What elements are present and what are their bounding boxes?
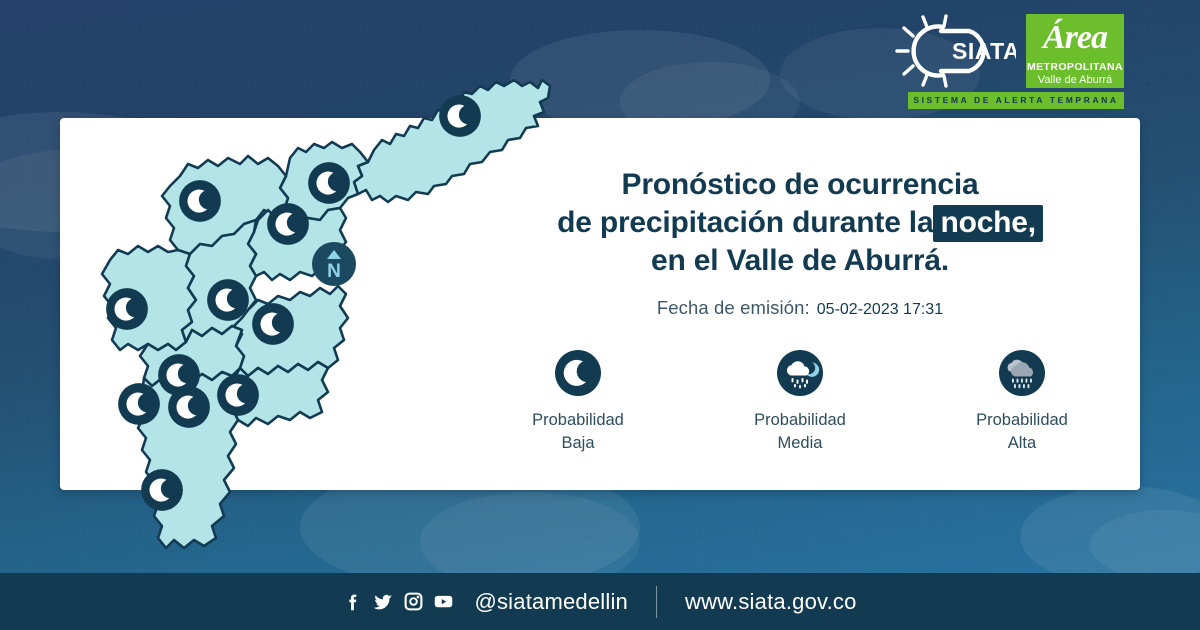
logo-row: SIATA Área METROPOLITANA Valle de Aburrá [894, 14, 1124, 88]
legend-label-baja: Probabilidad Baja [532, 409, 624, 454]
facebook-icon[interactable] [343, 591, 364, 612]
twitter-icon[interactable] [373, 591, 394, 612]
area-valle-text: Valle de Aburrá [1026, 74, 1124, 86]
area-metropolitana-logo: Área METROPOLITANA Valle de Aburrá [1026, 14, 1124, 88]
title-highlight-noche: noche, [933, 205, 1042, 242]
siata-wordmark: SIATA [952, 38, 1016, 64]
clouds-heavy-rain-icon [998, 349, 1046, 397]
youtube-icon[interactable] [433, 591, 454, 612]
legend-label-media: Probabilidad Media [754, 409, 846, 454]
website-url[interactable]: www.siata.gov.co [685, 589, 857, 615]
area-metropolitana-text: METROPOLITANA [1026, 61, 1124, 73]
legend-item-media[interactable]: Probabilidad Media [726, 349, 874, 454]
title-line-3: en el Valle de Aburrá. [557, 242, 1043, 280]
forecast-panel: Pronóstico de ocurrencia de precipitació… [460, 118, 1140, 490]
legend-label-line1: Probabilidad [976, 409, 1068, 431]
instagram-icon[interactable] [403, 591, 424, 612]
title-line-2-text: de precipitación durante la [557, 206, 933, 239]
emission-date-value: 05-02-2023 17:31 [817, 301, 943, 319]
emission-date: Fecha de emisión: 05-02-2023 17:31 [657, 297, 943, 319]
footer-divider [656, 586, 657, 618]
siata-logo: SIATA [894, 14, 1016, 88]
social-handle[interactable]: @siatamedellin [474, 589, 628, 615]
legend-label-line2: Baja [532, 432, 624, 454]
cloud-moon-rain-icon [776, 349, 824, 397]
header-logos: SIATA Área METROPOLITANA Valle de Aburrá… [894, 14, 1124, 109]
legend-item-baja[interactable]: Probabilidad Baja [504, 349, 652, 454]
probability-legend: Probabilidad Baja [504, 349, 1096, 454]
legend-label-line1: Probabilidad [532, 409, 624, 431]
legend-label-line2: Media [754, 432, 846, 454]
title-line-1: Pronóstico de ocurrencia [557, 166, 1043, 204]
area-script-text: Área [1026, 16, 1124, 60]
moon-icon [554, 349, 602, 397]
page-title: Pronóstico de ocurrencia de precipitació… [557, 166, 1043, 280]
social-icons [343, 591, 454, 612]
sun-cloud-icon: SIATA [894, 14, 1016, 88]
footer-bar: @siatamedellin www.siata.gov.co [0, 573, 1200, 630]
siata-tagline-band: SISTEMA DE ALERTA TEMPRANA [908, 92, 1124, 109]
legend-label-line1: Probabilidad [754, 409, 846, 431]
legend-item-alta[interactable]: Probabilidad Alta [948, 349, 1096, 454]
emission-date-label: Fecha de emisión: [657, 297, 810, 319]
legend-label-line2: Alta [976, 432, 1068, 454]
legend-label-alta: Probabilidad Alta [976, 409, 1068, 454]
footer-content: @siatamedellin www.siata.gov.co [343, 586, 856, 618]
title-line-2: de precipitación durante lanoche, [557, 204, 1043, 242]
